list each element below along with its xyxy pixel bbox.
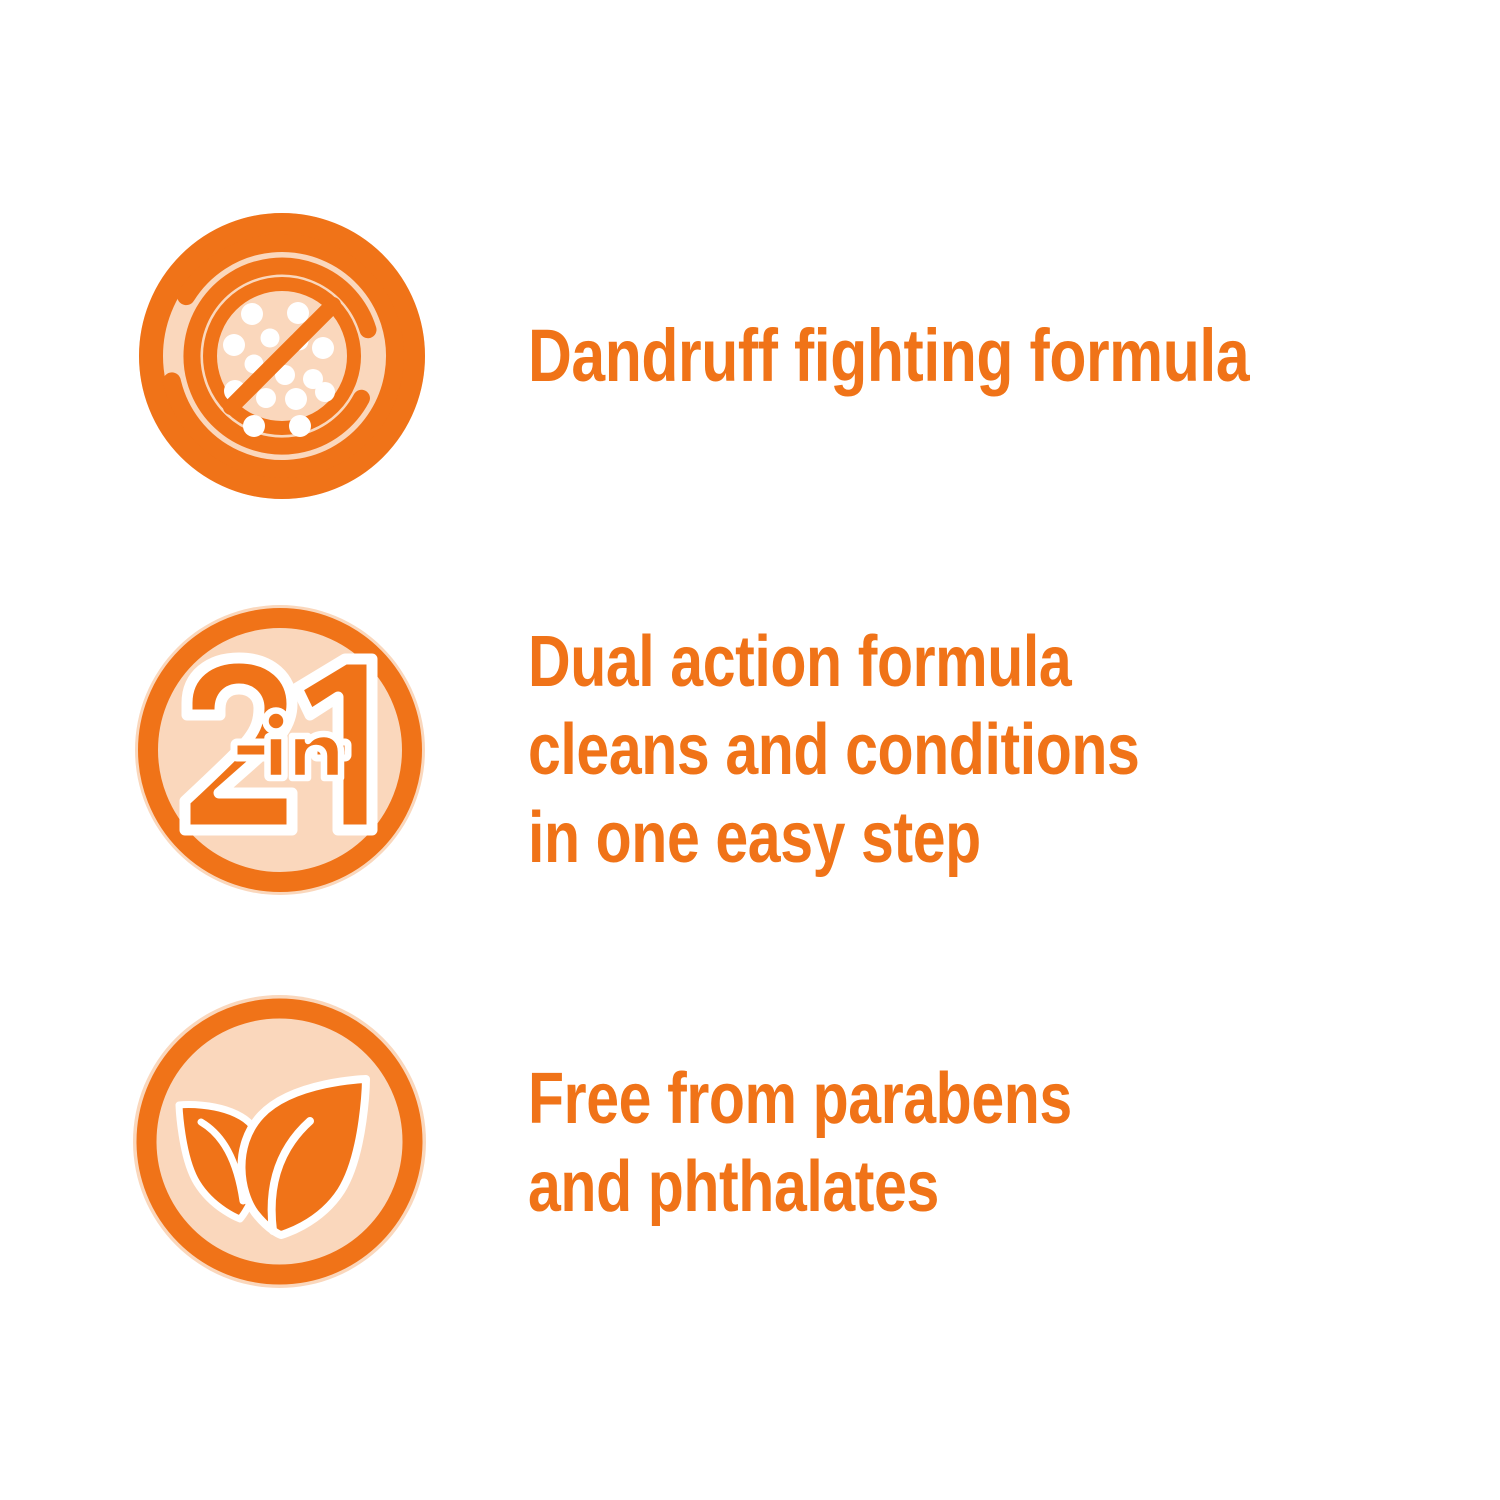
benefit-row-dandruff: Dandruff fighting formula	[0, 213, 1500, 499]
benefit-text-free-from: Free from parabens and phthalates	[528, 1055, 1072, 1231]
leaves-natural-icon	[133, 995, 426, 1288]
benefits-panel: Dandruff fighting formula	[0, 0, 1500, 1500]
benefit-text-dandruff: Dandruff fighting formula	[528, 312, 1249, 400]
no-dandruff-flakes-icon	[139, 213, 425, 499]
two-in-one-badge-icon	[135, 605, 425, 895]
benefit-row-free-from: Free from parabens and phthalates	[0, 995, 1500, 1290]
benefit-text-two-in-one: Dual action formula cleans and condition…	[528, 618, 1139, 882]
benefit-row-two-in-one: Dual action formula cleans and condition…	[0, 605, 1500, 895]
